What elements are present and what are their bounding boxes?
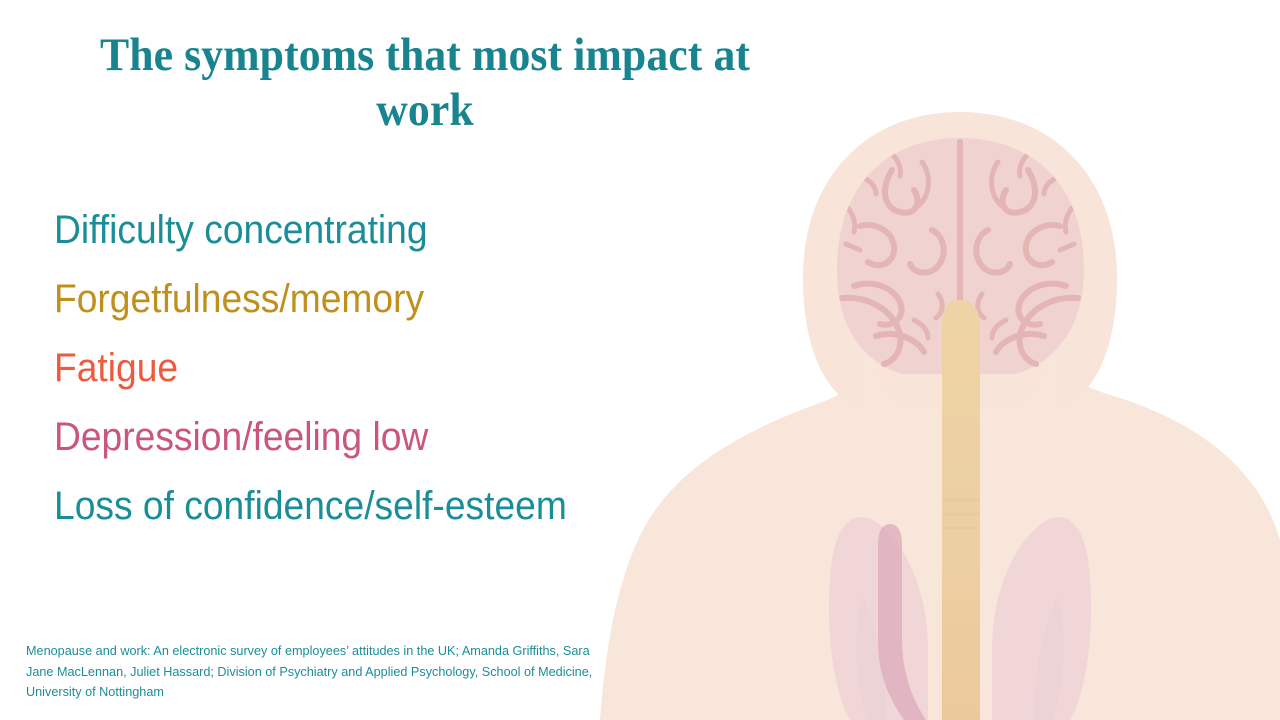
list-item: Fatigue <box>54 334 761 403</box>
list-item: Forgetfulness/memory <box>54 265 761 334</box>
list-item: Depression/feeling low <box>54 403 761 472</box>
brain <box>837 138 1084 374</box>
neck <box>878 280 1042 410</box>
list-item: Loss of confidence/self-esteem <box>54 472 761 541</box>
lungs <box>829 517 1091 720</box>
pulmonary-vessel <box>878 524 926 720</box>
slide-canvas: The symptoms that most impact at work Di… <box>0 0 1280 720</box>
symptom-label: Loss of confidence/self-esteem <box>54 484 567 528</box>
cerebellum <box>860 300 1046 352</box>
symptom-label: Forgetfulness/memory <box>54 277 424 321</box>
symptom-label: Depression/feeling low <box>54 415 428 459</box>
head-silhouette <box>803 112 1117 406</box>
symptom-label: Fatigue <box>54 346 178 390</box>
list-item: Difficulty concentrating <box>54 196 761 265</box>
source-citation: Menopause and work: An electronic survey… <box>26 641 617 703</box>
symptom-list: Difficulty concentrating Forgetfulness/m… <box>54 196 814 541</box>
symptom-label: Difficulty concentrating <box>54 208 428 252</box>
page-title: The symptoms that most impact at work <box>50 28 800 139</box>
trachea <box>942 300 980 720</box>
